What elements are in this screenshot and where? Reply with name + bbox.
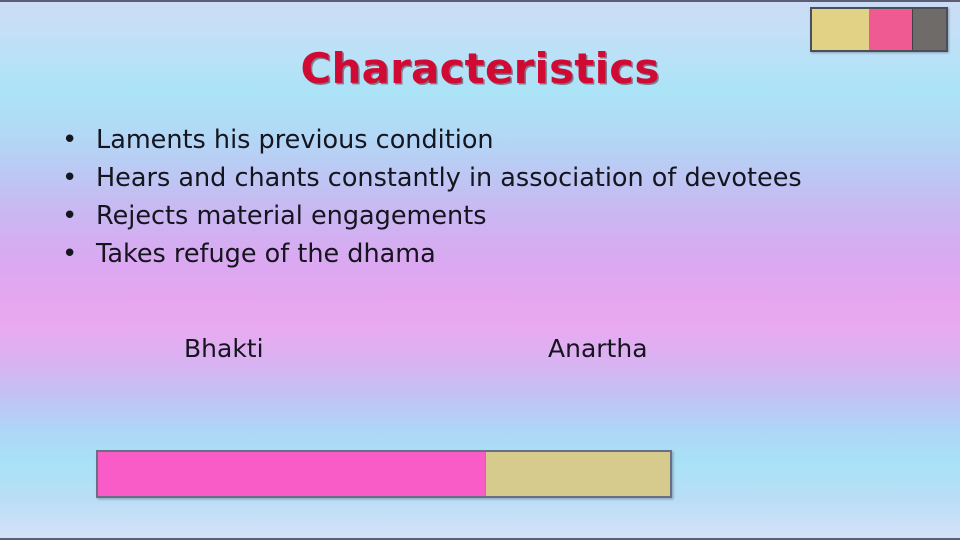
chart-label-bhakti: Bhakti: [184, 334, 264, 363]
list-item: Laments his previous condition: [58, 124, 878, 158]
list-item-label: Laments his previous condition: [96, 125, 494, 155]
bar-segment-bhakti: [98, 452, 485, 496]
chart-label-anartha: Anartha: [548, 334, 648, 363]
presentation-slide: Characteristics Laments his previous con…: [0, 0, 960, 540]
stacked-proportion-bar: [96, 450, 672, 498]
bar-segment-anartha: [485, 452, 670, 496]
list-item-label: Rejects material engagements: [96, 201, 487, 231]
list-item-label: Hears and chants constantly in associati…: [96, 163, 802, 193]
list-item: Takes refuge of the dhama: [58, 238, 878, 272]
list-item: Hears and chants constantly in associati…: [58, 162, 878, 196]
list-item: Rejects material engagements: [58, 200, 878, 234]
bullet-list: Laments his previous condition Hears and…: [58, 124, 878, 276]
chart-category-labels: Bhakti Anartha: [96, 334, 696, 370]
list-item-label: Takes refuge of the dhama: [96, 239, 436, 269]
page-title: Characteristics: [0, 44, 960, 93]
